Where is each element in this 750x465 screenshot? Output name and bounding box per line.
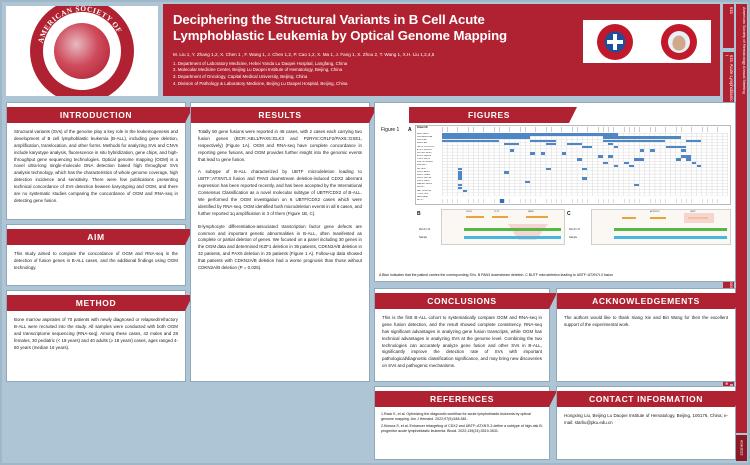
aim-text: This study aimed to compare the concorda… bbox=[7, 245, 185, 277]
oncoprint-heatmap: Patient ID BCR::ABL1 CDKN2A/B del PAX5 d… bbox=[415, 125, 731, 205]
panel-c-sample-label: Sample bbox=[569, 236, 577, 239]
heatmap-cell bbox=[608, 155, 613, 158]
references-heading: REFERENCES bbox=[375, 391, 549, 407]
heatmap-cell bbox=[510, 149, 515, 152]
affiliation-1: 1. Department of Laboratory Medicine, He… bbox=[173, 61, 573, 68]
heatmap-cell bbox=[634, 158, 644, 161]
author-list: M. Liu 1, Y. Zhang 1,2, X. Chen 1 , F. W… bbox=[173, 52, 573, 58]
heatmap-cell bbox=[463, 190, 468, 193]
heatmap-cell bbox=[629, 165, 634, 168]
ash-society-logo: AMERICAN SOCIETY OF HEMATOLOGY bbox=[6, 6, 158, 96]
acknowledgements-heading: ACKNOWLEDGEMENTS bbox=[557, 293, 735, 309]
aim-heading: AIM bbox=[7, 229, 185, 245]
panel-b-gene-cdx2: CDX2 bbox=[466, 211, 472, 213]
conclusions-text: This is the first B-ALL cohort to system… bbox=[375, 309, 549, 375]
heatmap-cell bbox=[546, 143, 556, 146]
heatmap-cell bbox=[541, 152, 546, 155]
heatmap-cell bbox=[582, 146, 592, 149]
method-heading: METHOD bbox=[7, 295, 185, 311]
results-body: Totally 50 gene fusions were reported in… bbox=[191, 123, 369, 277]
references-list: 1.Rack K, et al. Optimizing the diagnost… bbox=[375, 407, 549, 441]
heatmap-sample-track bbox=[442, 199, 728, 203]
acknowledgements-text: The authors would like to thank Xiang Xi… bbox=[557, 309, 735, 334]
section-results: RESULTS Totally 50 gene fusions were rep… bbox=[190, 102, 370, 382]
heatmap-cell bbox=[603, 136, 680, 139]
figure-1-caption: A Blue indicates that the patient carrie… bbox=[379, 273, 731, 278]
heatmap-column-ticks bbox=[442, 127, 728, 132]
section-aim: AIM This study aimed to compare the conc… bbox=[6, 224, 186, 286]
heatmap-cell bbox=[577, 158, 582, 161]
section-contact-information: CONTACT INFORMATION Hongxing Liu, Beijin… bbox=[556, 386, 736, 460]
figure-panel-c-letter: C bbox=[567, 211, 571, 217]
section-figures: FIGURES Figure 1 A Patient ID BCR::ABL1 … bbox=[374, 102, 736, 282]
lu-daopei-institute-of-hematology-seal bbox=[661, 24, 697, 60]
heatmap-cell bbox=[458, 177, 463, 180]
heatmap-cell bbox=[582, 177, 587, 180]
heatmap-row-label: MYC r bbox=[417, 199, 442, 202]
introduction-heading: INTRODUCTION bbox=[7, 107, 185, 123]
heatmap-cell bbox=[442, 140, 499, 143]
panel-b-reference-track bbox=[464, 228, 561, 231]
panel-b-gene-tlt3: TLT3 bbox=[494, 211, 499, 213]
heatmap-row-axis-header: Patient ID bbox=[417, 127, 428, 129]
heatmap-cell bbox=[640, 149, 645, 152]
heatmap-cell bbox=[458, 168, 463, 171]
heatmap-cell bbox=[650, 149, 655, 152]
figure-panel-b: CDX2 TLT3 PAN3 Ref chr 13 Sample bbox=[441, 209, 565, 245]
institution-logos bbox=[583, 20, 711, 63]
panel-b-gene-pan3: PAN3 bbox=[528, 211, 534, 213]
heatmap-cell bbox=[458, 187, 463, 190]
heatmap-cell bbox=[598, 155, 603, 158]
ash-logo-arc-text: AMERICAN SOCIETY OF HEMATOLOGY bbox=[34, 6, 130, 96]
heatmap-cell bbox=[582, 168, 587, 171]
poster-canvas: AMERICAN SOCIETY OF HEMATOLOGY Decipheri… bbox=[0, 0, 750, 465]
heatmap-cell bbox=[530, 152, 535, 155]
section-references: REFERENCES 1.Rack K, et al. Optimizing t… bbox=[374, 386, 550, 460]
heatmap-cell bbox=[666, 146, 686, 149]
figures-heading: FIGURES bbox=[409, 107, 569, 123]
results-paragraph-1: Totally 50 gene fusions were reported in… bbox=[198, 129, 362, 163]
figure-panel-b-letter: B bbox=[417, 211, 421, 217]
heatmap-cell bbox=[686, 140, 701, 143]
panel-c-ref-label: Ref chr 17 bbox=[569, 228, 580, 231]
heatmap-cell bbox=[608, 143, 613, 146]
heatmap-cell bbox=[634, 184, 639, 187]
svg-text:AMERICAN SOCIETY OF: AMERICAN SOCIETY OF bbox=[36, 6, 124, 44]
heatmap-cell bbox=[603, 162, 608, 165]
heatmap-cell bbox=[562, 152, 567, 155]
sidebar-strip-right-label: American Society of Hematology Annual Me… bbox=[742, 7, 747, 94]
method-text: Bone marrow aspirates of 70 patients wit… bbox=[7, 311, 185, 356]
heatmap-grid bbox=[442, 133, 728, 196]
reference-item: 2.Kimura S, et al. Enhancer retargeting … bbox=[381, 424, 543, 434]
svg-text:HEMATOLOGY: HEMATOLOGY bbox=[47, 66, 102, 92]
results-paragraph-3: B-lymphocyte differentiation-associated … bbox=[198, 224, 362, 272]
heatmap-cell bbox=[504, 171, 509, 174]
affiliation-2: 2. Molecular Medicine Center, Beijing Lu… bbox=[173, 67, 573, 74]
results-heading: RESULTS bbox=[191, 107, 369, 123]
affiliation-3: 3. Department of Oncology, Capital Medic… bbox=[173, 74, 573, 81]
figure-1-label: Figure 1 bbox=[381, 127, 399, 133]
affiliation-list: 1. Department of Laboratory Medicine, He… bbox=[173, 61, 573, 87]
results-paragraph-2: A subtype of B-ALL characterized by UBTF… bbox=[198, 169, 362, 217]
section-method: METHOD Bone marrow aspirates of 70 patie… bbox=[6, 290, 186, 382]
figure-panel-a-letter: A bbox=[408, 127, 412, 133]
panel-c-gene-atxn7l3: ATXN7L3 bbox=[650, 211, 659, 213]
section-conclusions: CONCLUSIONS This is the first B-ALL coho… bbox=[374, 288, 550, 382]
status-badge: ASH2023 bbox=[736, 435, 747, 461]
sidebar-strip-right: American Society of Hematology Annual Me… bbox=[736, 4, 747, 433]
panel-c-reference-track bbox=[614, 228, 727, 231]
contact-heading: CONTACT INFORMATION bbox=[557, 391, 735, 407]
heatmap-cell bbox=[697, 165, 702, 168]
poster-header: Deciphering the Structural Variants in B… bbox=[163, 4, 720, 96]
heatmap-cell bbox=[692, 162, 697, 165]
panel-b-sample-label: Sample bbox=[419, 236, 427, 239]
sidebar-strip-top: 615 bbox=[723, 4, 734, 48]
panel-b-ref-label: Ref chr 13 bbox=[419, 228, 430, 231]
figure-panel-c: ATXN7L3 UBTF Ref chr 17 Sample bbox=[591, 209, 731, 245]
heatmap-cell bbox=[458, 174, 463, 177]
conclusions-heading: CONCLUSIONS bbox=[375, 293, 549, 309]
affiliation-4: 4. Division of Pathology & Laboratory Me… bbox=[173, 81, 573, 88]
lu-daopei-medical-center-seal bbox=[597, 24, 633, 60]
heatmap-cell bbox=[458, 184, 463, 187]
heatmap-cell bbox=[681, 149, 686, 152]
heatmap-cell bbox=[676, 158, 681, 161]
introduction-text: Structural variants (SVs) of the genome … bbox=[7, 123, 185, 210]
heatmap-cell bbox=[624, 162, 629, 165]
heatmap-row-labels: BCR::ABL1 CDKN2A/B del PAX5 del IKZF1 de… bbox=[417, 133, 442, 202]
heatmap-cell bbox=[614, 146, 619, 149]
panel-b-sample-track bbox=[464, 236, 561, 239]
figure-1-artwork: Patient ID BCR::ABL1 CDKN2A/B del PAX5 d… bbox=[415, 125, 731, 260]
heatmap-cell bbox=[504, 143, 519, 146]
contact-text: Hongxing Liu, Beijing Lu Daopei Institut… bbox=[557, 407, 735, 432]
panel-c-sample-track bbox=[614, 236, 727, 239]
heatmap-cell bbox=[525, 181, 530, 184]
heatmap-cell bbox=[567, 143, 582, 146]
sidebar-strip-top-label: 615 bbox=[729, 7, 734, 14]
heatmap-cell bbox=[614, 165, 619, 168]
heatmap-cell bbox=[442, 136, 530, 139]
heatmap-cell bbox=[546, 168, 551, 171]
reference-item: 1.Rack K, et al. Optimizing the diagnost… bbox=[381, 412, 543, 422]
section-introduction: INTRODUCTION Structural variants (SVs) o… bbox=[6, 102, 186, 220]
heatmap-cell bbox=[686, 158, 691, 161]
page-title: Deciphering the Structural Variants in B… bbox=[173, 12, 568, 44]
section-acknowledgements: ACKNOWLEDGEMENTS The authors would like … bbox=[556, 288, 736, 382]
